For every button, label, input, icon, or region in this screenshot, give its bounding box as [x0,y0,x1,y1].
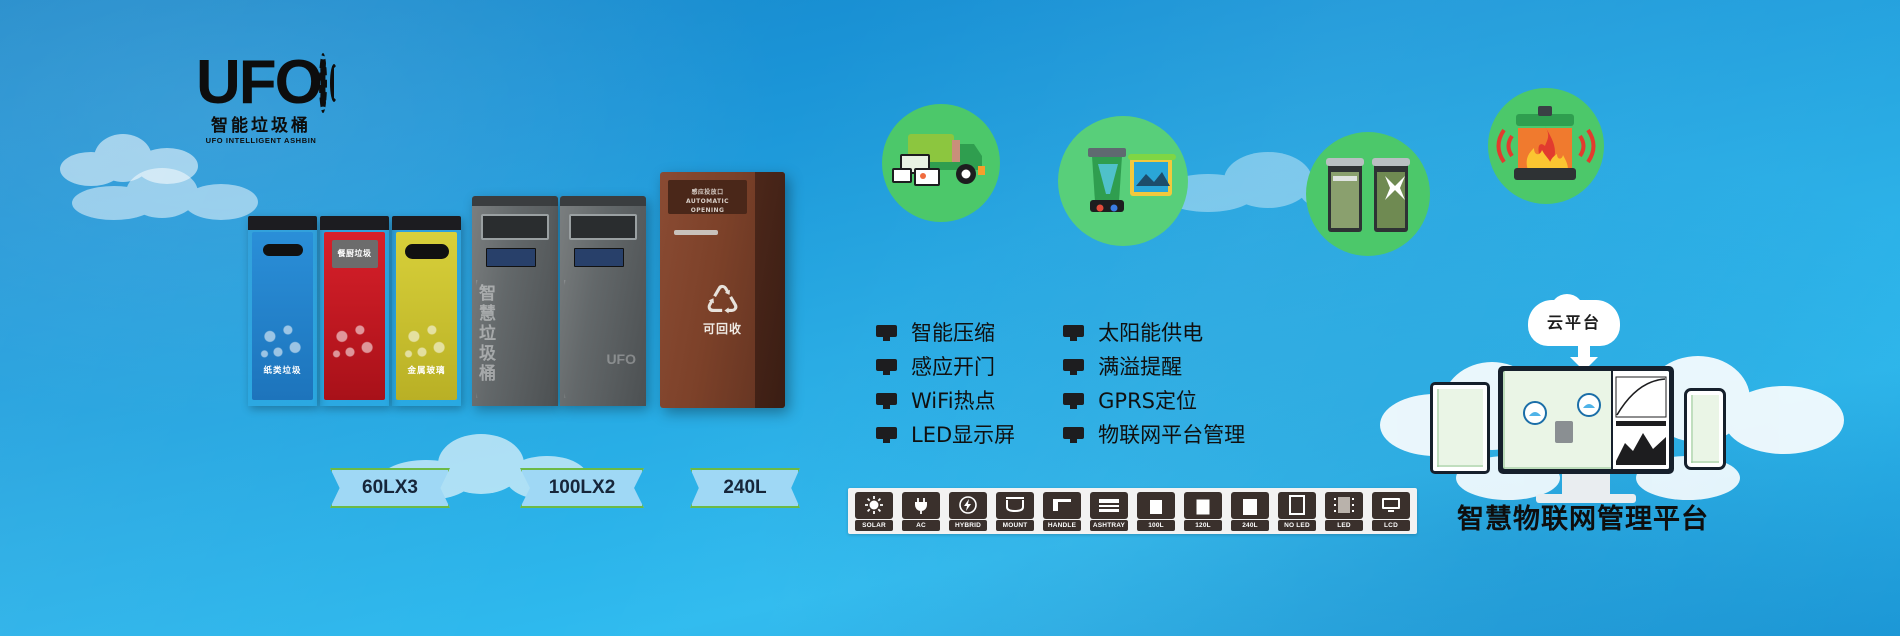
cloud-platform-label: 云平台 [1528,300,1620,346]
spec-item-ac[interactable]: AC [902,492,940,531]
bin-unit-red: 餐厨垃圾 [320,216,389,406]
fire-alarm-bin-icon [1488,88,1604,204]
feature-column-2: 太阳能供电 满溢提醒 GPRS定位 物联网平台管理 [1063,322,1245,446]
feature-item: GPRS定位 [1063,390,1245,412]
monitor-icon [876,325,897,341]
bin-graphic [332,318,377,364]
cloud-platform-badge: 云平台 [1528,300,1620,346]
recycle-badge: ♺ 可回收 [693,280,753,336]
capacity-ribbon-100lx2: 100LX2 [520,468,644,508]
garbage-truck-icon [882,104,1000,222]
bin-unit-blue: 纸类垃圾 [248,216,317,406]
spec-label: NO LED [1278,520,1316,531]
bin-unit-gray-right: UFO [560,196,646,406]
bin-surface-pattern [564,280,642,398]
bin-hood [248,216,317,230]
bin-side-panel [755,172,785,408]
monitor-icon [1063,427,1084,443]
platform-title: 智慧物联网管理平台 [1443,505,1723,535]
cloud-decoration [60,128,210,188]
spec-item-ashtray[interactable]: ASHTRAY [1090,492,1128,531]
spec-item-120l[interactable]: 120L [1184,492,1222,531]
bin-unit-gray-left: 智慧垃圾桶 [472,196,558,406]
bin-lcd-screen [486,248,536,267]
feature-column-1: 智能压缩 感应开门 WiFi热点 LED显示屏 [876,322,1015,446]
bin-100l-icon [1137,492,1175,519]
plate-opening-icon: 餐厨垃圾 [332,240,378,268]
bin-hood [392,216,461,230]
dashboard-chart-panel [1611,371,1669,469]
feature-label: 物联网平台管理 [1098,424,1245,446]
bin-window [481,214,549,240]
recycle-icon: ♺ [693,280,753,322]
ufo-ring-icon [319,53,326,113]
product-trio-bin: 纸类垃圾 餐厨垃圾 金属玻璃 [248,216,463,406]
monitor-dashboard-screen [1503,371,1669,469]
bin-sensor-door-cn: 感应投放口 [668,188,747,197]
spec-item-no-led[interactable]: NO LED [1278,492,1316,531]
monitor-stand-neck [1562,474,1610,496]
bin-hood [560,196,646,206]
monitor-icon [876,393,897,409]
slot-opening-icon [263,244,303,256]
spec-label: SOLAR [855,520,893,531]
feature-item: WiFi热点 [876,390,1015,412]
logo-chinese-name: 智能垃圾桶 [196,117,326,135]
phone-map-screen [1691,395,1719,463]
spec-item-handle[interactable]: HANDLE [1043,492,1081,531]
bin-sensor-door-en: AUTOMATIC OPENING [668,197,747,215]
bin-face: 餐厨垃圾 [324,232,385,400]
feature-item: LED显示屏 [876,424,1015,446]
monitor-stand-base [1536,494,1636,503]
bin-label: 纸类垃圾 [252,366,313,376]
monitor-icon [1063,359,1084,375]
bin-face: 金属玻璃 [396,232,457,400]
spec-label: 240L [1231,520,1269,531]
logo-wordmark: UFO [196,52,326,114]
round-opening-icon [405,244,449,259]
bin-hood [320,216,389,230]
spec-label: MOUNT [996,520,1034,531]
bin-face: 纸类垃圾 [252,232,313,400]
spec-item-100l[interactable]: 100L [1137,492,1175,531]
phone-device [1684,388,1726,470]
feature-item: 物联网平台管理 [1063,424,1245,446]
bin-graphic [260,318,305,364]
capacity-ribbon-60lx3: 60LX3 [330,468,450,508]
product-single-bin: 感应投放口 AUTOMATIC OPENING ♺ 可回收 [660,172,785,408]
monitor-icon [1063,393,1084,409]
wall-mount-icon [996,492,1034,519]
feature-label: 太阳能供电 [1098,322,1203,344]
capacity-ribbon-240l: 240L [690,468,800,508]
spec-label: HANDLE [1043,520,1081,531]
bin-vertical-label: 智慧垃圾桶 [479,284,499,384]
bin-lcd-screen [574,248,624,267]
bin-graphic [404,318,449,364]
bin-240l-icon [1231,492,1269,519]
no-led-icon [1278,492,1316,519]
feature-label: 感应开门 [911,356,995,378]
bin-120l-icon [1184,492,1222,519]
sun-icon [855,492,893,519]
feature-item: 智能压缩 [876,322,1015,344]
handle-icon [1043,492,1081,519]
feature-label: GPRS定位 [1098,390,1197,412]
spec-item-solar[interactable]: SOLAR [855,492,893,531]
plug-icon [902,492,940,519]
bin-sensor-door: 感应投放口 AUTOMATIC OPENING [668,180,747,214]
bin-window [569,214,637,240]
dual-bin-fill-icon [1306,132,1430,256]
cloud-decoration [72,166,262,222]
feature-list: 智能压缩 感应开门 WiFi热点 LED显示屏 太阳能供电 满溢提醒 [876,322,1296,446]
spec-label: ASHTRAY [1090,520,1128,531]
feature-item: 感应开门 [876,356,1015,378]
spec-item-240l[interactable]: 240L [1231,492,1269,531]
monitor-icon [876,427,897,443]
brand-logo: UFO 智能垃圾桶 UFO INTELLIGENT ASHBIN [196,52,326,145]
spec-item-mount[interactable]: MOUNT [996,492,1034,531]
feature-label: LED显示屏 [911,424,1015,446]
spec-item-hybrid[interactable]: HYBRID [949,492,987,531]
compactor-bin-icon [1058,116,1188,246]
bin-card-slot [674,230,718,235]
led-icon [1325,492,1363,519]
bin-brand-mark: UFO [606,352,636,366]
spec-label: 120L [1184,520,1222,531]
spec-item-lcd[interactable]: LCD [1372,492,1410,531]
bin-hood [472,196,558,206]
spec-label: HYBRID [949,520,987,531]
tablet-map-screen [1437,389,1483,467]
hybrid-bolt-icon [949,492,987,519]
spec-label: LED [1325,520,1363,531]
ashtray-icon [1090,492,1128,519]
fleet-monitoring-circle [882,104,1000,222]
logo-english-name: UFO INTELLIGENT ASHBIN [196,136,326,145]
monitor-icon [1063,325,1084,341]
monitor-icon [876,359,897,375]
feature-item: 太阳能供电 [1063,322,1245,344]
spec-icon-strip: SOLAR AC HYBRID MOUNT HANDLE [848,488,1417,534]
feature-label: 满溢提醒 [1098,356,1182,378]
compaction-circle [1058,116,1188,246]
spec-label: 100L [1137,520,1175,531]
spec-label: AC [902,520,940,531]
desktop-monitor [1498,366,1674,474]
feature-label: WiFi热点 [911,390,996,412]
bin-unit-yellow: 金属玻璃 [392,216,461,406]
fill-level-circle [1306,132,1430,256]
product-duo-bin: 智慧垃圾桶 UFO [472,196,647,406]
lcd-icon [1372,492,1410,519]
fire-alarm-circle [1488,88,1604,204]
logo-letters: UFO [196,54,321,112]
monitor-map-graphic [1503,371,1621,469]
feature-item: 满溢提醒 [1063,356,1245,378]
tablet-device [1430,382,1490,474]
recycle-label: 可回收 [693,322,753,336]
banner-canvas: UFO 智能垃圾桶 UFO INTELLIGENT ASHBIN 纸类垃圾 餐厨… [0,0,1900,636]
feature-label: 智能压缩 [911,322,995,344]
spec-label: LCD [1372,520,1410,531]
spec-item-led[interactable]: LED [1325,492,1363,531]
bin-label: 金属玻璃 [396,366,457,376]
